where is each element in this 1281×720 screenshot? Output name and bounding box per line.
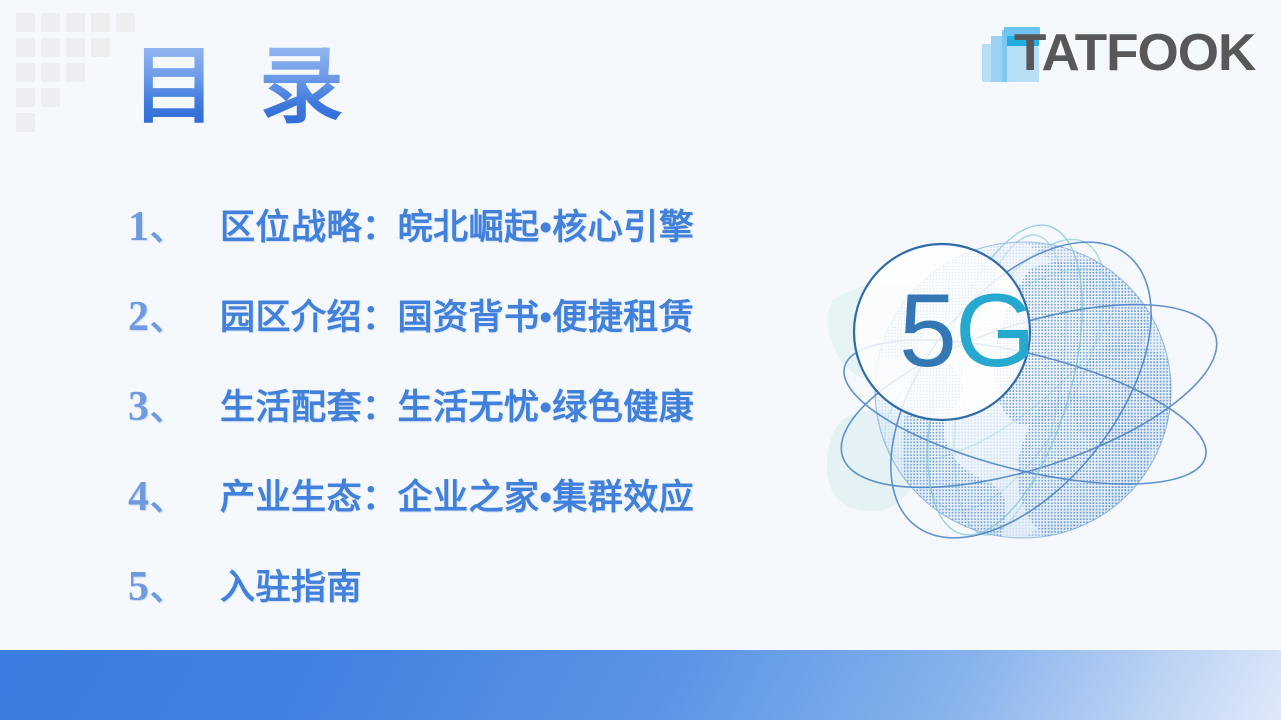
badge-digit-5: 5 xyxy=(899,273,957,389)
toc-item-4[interactable]: 4、 产业生态：企业之家•集群效应 xyxy=(128,452,788,542)
decorative-dot-grid xyxy=(16,13,146,133)
badge-letter-g: G xyxy=(955,273,1036,389)
decorative-square xyxy=(16,88,35,107)
decorative-square xyxy=(16,38,35,57)
toc-number-3: 3、 xyxy=(128,386,220,428)
toc-number-4: 4、 xyxy=(128,476,220,518)
page-title: 目 录 xyxy=(132,44,353,128)
bottom-banner xyxy=(0,650,1281,720)
toc-item-5[interactable]: 5、 入驻指南 xyxy=(128,542,788,632)
decorative-square xyxy=(91,13,110,32)
toc-label-4: 产业生态：企业之家•集群效应 xyxy=(220,480,694,515)
toc-label-5: 入驻指南 xyxy=(220,570,362,605)
toc-item-2[interactable]: 2、 园区介绍：国资背书•便捷租赁 xyxy=(128,272,788,362)
toc-item-3[interactable]: 3、 生活配套：生活无忧•绿色健康 xyxy=(128,362,788,452)
toc-label-2: 园区介绍：国资背书•便捷租赁 xyxy=(220,300,694,335)
decorative-square xyxy=(16,63,35,82)
decorative-square xyxy=(66,63,85,82)
decorative-square xyxy=(41,13,60,32)
decorative-square xyxy=(41,88,60,107)
toc-list: 1、 区位战略：皖北崛起•核心引擎 2、 园区介绍：国资背书•便捷租赁 3、 生… xyxy=(128,182,788,632)
decorative-square xyxy=(16,113,35,132)
globe-5g-illustration: 5 G xyxy=(785,150,1255,620)
toc-label-1: 区位战略：皖北崛起•核心引擎 xyxy=(220,210,694,245)
decorative-square xyxy=(116,13,135,32)
decorative-square xyxy=(16,13,35,32)
slide-canvas: 目 录 1、 区位战略：皖北崛起•核心引擎 2、 园区介绍：国资背书•便捷租赁 … xyxy=(0,0,1281,720)
toc-label-3: 生活配套：生活无忧•绿色健康 xyxy=(220,390,694,425)
toc-item-1[interactable]: 1、 区位战略：皖北崛起•核心引擎 xyxy=(128,182,788,272)
logo-wordmark: TATFOOK xyxy=(1014,27,1255,79)
toc-number-2: 2、 xyxy=(128,296,220,338)
decorative-square xyxy=(66,13,85,32)
toc-number-1: 1、 xyxy=(128,206,220,248)
decorative-square xyxy=(66,38,85,57)
decorative-square xyxy=(41,38,60,57)
toc-number-5: 5、 xyxy=(128,566,220,608)
company-logo: TATFOOK xyxy=(982,22,1251,84)
decorative-square xyxy=(91,38,110,57)
decorative-square xyxy=(41,63,60,82)
